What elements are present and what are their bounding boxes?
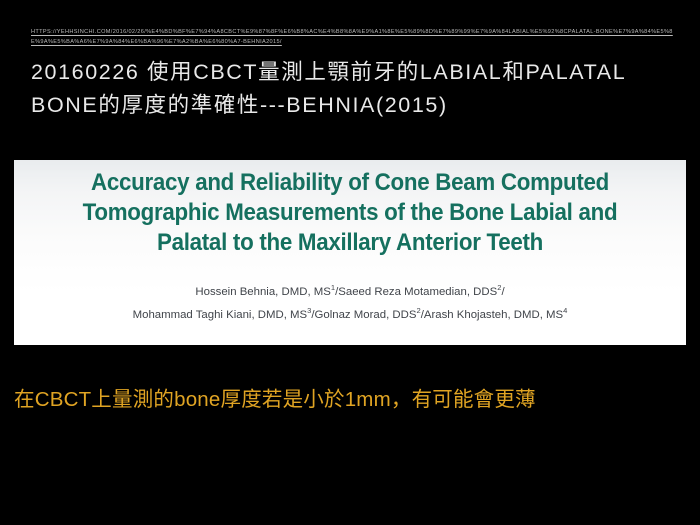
paper-title-line-2: Tomographic Measurements of the Bone Lab… [38,198,663,228]
author-text: /Golnaz Morad, DDS [311,309,416,321]
slide-canvas: HTTPS://YEHHSINCHI.COM/2016/02/26/%E4%BD… [0,0,700,525]
paper-authors: Hossein Behnia, DMD, MS1/Saeed Reza Mota… [14,281,686,327]
author-text: /Arash Khojasteh, DMD, MS [421,309,563,321]
paper-title-line-1: Accuracy and Reliability of Cone Beam Co… [38,168,663,198]
author-text: Hossein Behnia, DMD, MS [195,286,330,298]
paper-screenshot-image: Accuracy and Reliability of Cone Beam Co… [14,160,686,345]
paper-title-line-3: Palatal to the Maxillary Anterior Teeth [38,228,663,258]
slide-caption: 在CBCT上量測的bone厚度若是小於1mm，有可能會更薄 [14,385,690,415]
author-text: / [501,286,504,298]
paper-title: Accuracy and Reliability of Cone Beam Co… [38,168,663,258]
author-text: /Saeed Reza Motamedian, DDS [335,286,497,298]
author-affiliation-marker: 4 [563,306,567,315]
slide-headline: 20160226 使用CBCT量測上顎前牙的LABIAL和PALATAL BON… [31,56,671,122]
source-url-link[interactable]: HTTPS://YEHHSINCHI.COM/2016/02/26/%E4%BD… [31,27,677,47]
author-text: Mohammad Taghi Kiani, DMD, MS [133,309,308,321]
paper-author-line-2: Mohammad Taghi Kiani, DMD, MS3/Golnaz Mo… [14,304,686,327]
paper-author-line-1: Hossein Behnia, DMD, MS1/Saeed Reza Mota… [14,281,686,304]
